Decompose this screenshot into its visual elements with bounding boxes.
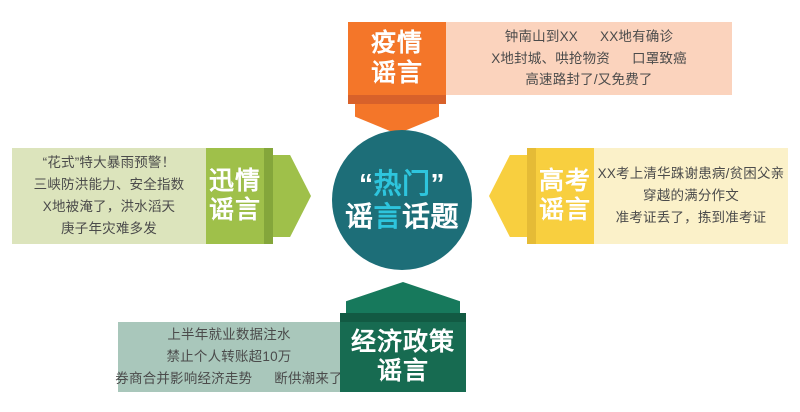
panel-line: 准考证丢了，拣到准考证: [616, 207, 767, 229]
panel-line: “花式”特大暴雨预警！: [43, 152, 176, 174]
branch-label-line-2: 谣言: [371, 59, 423, 89]
branch-label-line-1: 高考: [539, 167, 591, 197]
panel-line: 高速路封了/又免费了: [525, 69, 652, 91]
branch-label-flood[interactable]: 迅情 谣言: [206, 148, 264, 244]
gaokao-arrow-shadow: [527, 148, 536, 244]
branch-label-line-2: 谣言: [377, 357, 429, 387]
panel-line: 上半年就业数据注水: [167, 324, 290, 346]
panel-line: 钟南山到XXXX地有确诊: [505, 26, 673, 48]
panel-line: 禁止个人转账超10万: [166, 346, 291, 368]
economic-policy-arrow-shadow: [340, 313, 466, 322]
flood-arrow-right-icon: [273, 155, 311, 237]
branch-label-line-2: 谣言: [539, 196, 591, 226]
gaokao-arrow-left-icon: [489, 155, 527, 237]
branch-panel-flood: “花式”特大暴雨预警！ 三峡防洪能力、安全指数 X地被淹了，洪水滔天 庚子年灾难…: [12, 148, 206, 244]
branch-label-line-2: 谣言: [209, 196, 261, 226]
panel-line: X地封城、哄抢物资口罩致癌: [491, 48, 687, 70]
center-hub-line-2: 谣言话题: [345, 201, 459, 232]
branch-label-line-1: 迅情: [209, 167, 261, 197]
panel-line: 三峡防洪能力、安全指数: [34, 174, 185, 196]
branch-label-epidemic[interactable]: 疫情 谣言: [348, 22, 446, 95]
flood-arrow-shadow: [264, 148, 273, 244]
economic-policy-arrow-up-icon: [346, 282, 460, 313]
branch-label-line-1: 经济政策: [351, 328, 455, 358]
panel-line: 穿越的满分作文: [643, 185, 739, 207]
center-hub[interactable]: “热门” 谣言话题: [332, 130, 472, 270]
branch-panel-economic-policy: 上半年就业数据注水 禁止个人转账超10万 券商合并影响经济走势断供潮来了: [118, 322, 340, 392]
branch-label-gaokao[interactable]: 高考 谣言: [536, 148, 594, 244]
panel-line: 庚子年灾难多发: [61, 218, 157, 240]
center-hub-line-1: “热门”: [359, 168, 445, 199]
panel-line: XX考上清华跦谢患病/贫困父亲: [598, 163, 785, 185]
panel-line: 券商合并影响经济走势断供潮来了: [115, 368, 343, 390]
infographic-canvas: 钟南山到XXXX地有确诊 X地封城、哄抢物资口罩致癌 高速路封了/又免费了 疫情…: [0, 0, 800, 412]
branch-label-economic-policy[interactable]: 经济政策 谣言: [340, 322, 466, 392]
branch-panel-epidemic: 钟南山到XXXX地有确诊 X地封城、哄抢物资口罩致癌 高速路封了/又免费了: [446, 22, 732, 95]
epidemic-arrow-shadow: [348, 95, 446, 104]
panel-line: X地被淹了，洪水滔天: [43, 196, 176, 218]
branch-label-line-1: 疫情: [371, 29, 423, 59]
branch-panel-gaokao: XX考上清华跦谢患病/贫困父亲 穿越的满分作文 准考证丢了，拣到准考证: [594, 148, 788, 244]
